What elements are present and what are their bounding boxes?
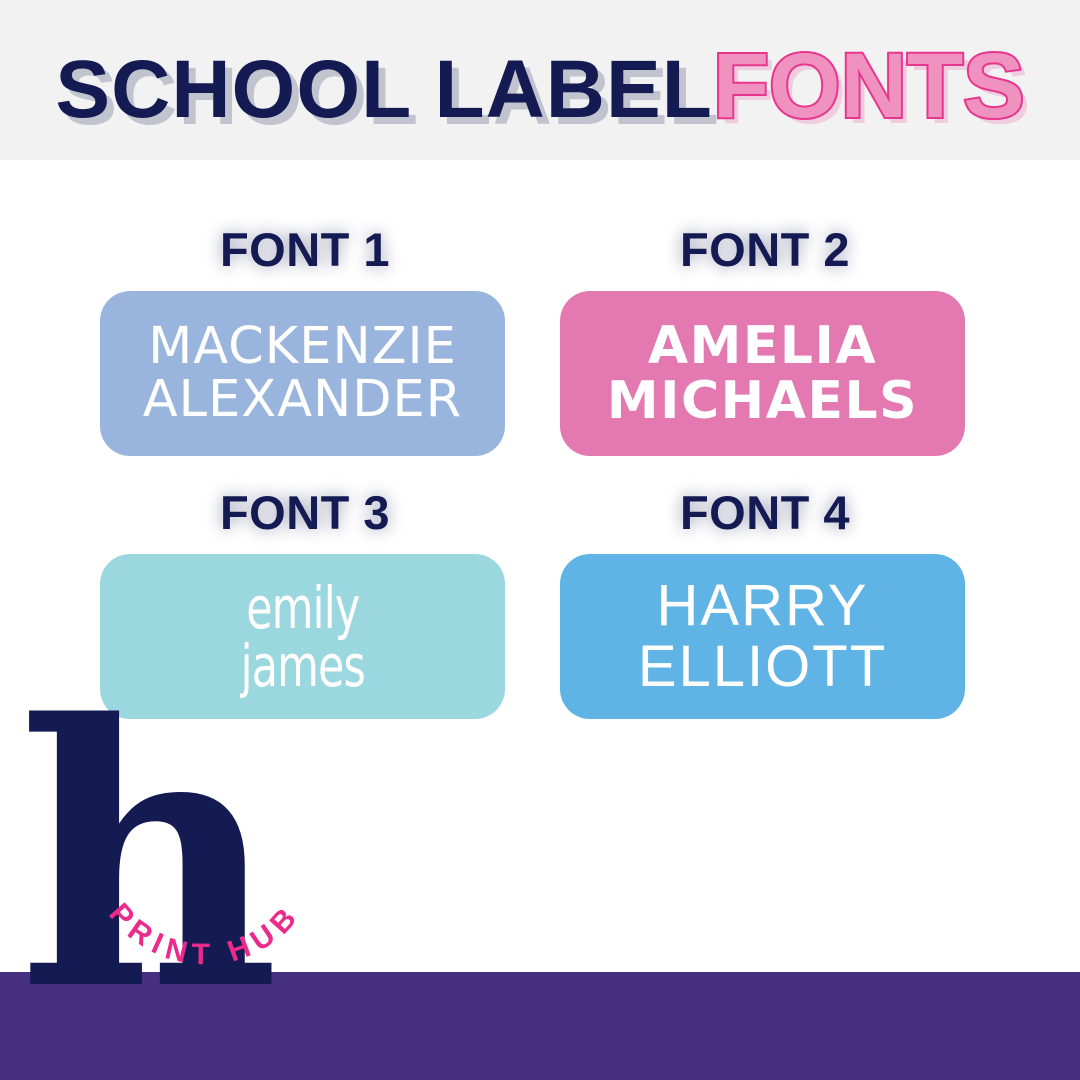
- label-card-4-line2: ELLIOTT: [638, 634, 887, 699]
- label-card-2[interactable]: AMELIAMICHAELS: [560, 291, 965, 456]
- header-band: SCHOOL LABELFONTS: [0, 0, 1080, 160]
- font-sample-4[interactable]: FONT 4 HARRYELLIOTT: [560, 485, 970, 719]
- font-sample-2[interactable]: FONT 2 AMELIAMICHAELS: [560, 222, 970, 456]
- label-card-4-line1: HARRY: [657, 573, 869, 638]
- title-main-text: SCHOOL LABEL: [55, 43, 712, 137]
- font-sample-3-heading: FONT 3: [100, 485, 510, 540]
- brand-logo[interactable]: h PRINT HUB: [18, 718, 348, 1028]
- font-sample-2-heading: FONT 2: [560, 222, 970, 277]
- logo-arc-textpath: PRINT HUB: [102, 897, 307, 971]
- label-card-1[interactable]: MACKENZIEALEXANDER: [100, 291, 505, 456]
- logo-arc-text: PRINT HUB: [90, 878, 320, 1028]
- label-card-1-text: MACKENZIEALEXANDER: [143, 321, 462, 425]
- label-card-4[interactable]: HARRYELLIOTT: [560, 554, 965, 719]
- label-card-2-line1: AMELIA: [648, 316, 877, 376]
- title-accent-text: FONTS: [713, 34, 1025, 139]
- font-sample-1-heading: FONT 1: [100, 222, 510, 277]
- label-card-2-text: AMELIAMICHAELS: [607, 319, 918, 428]
- font-sample-1[interactable]: FONT 1 MACKENZIEALEXANDER: [100, 222, 510, 456]
- label-card-2-line2: MICHAELS: [607, 371, 918, 431]
- font-sample-4-heading: FONT 4: [560, 485, 970, 540]
- label-card-1-line1: MACKENZIE: [148, 317, 457, 376]
- label-card-4-text: HARRYELLIOTT: [638, 576, 887, 697]
- svg-text:PRINT HUB: PRINT HUB: [102, 897, 307, 971]
- page-title: SCHOOL LABELFONTS: [55, 34, 1024, 139]
- label-card-1-line2: ALEXANDER: [143, 370, 462, 429]
